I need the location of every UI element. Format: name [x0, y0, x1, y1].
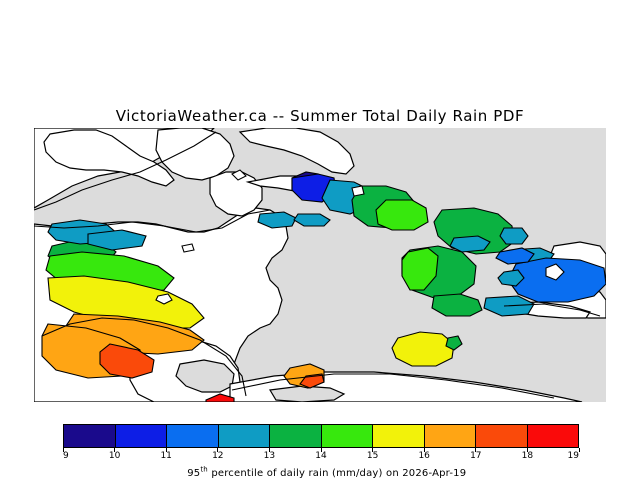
region-galiano-teal-edge [500, 228, 528, 244]
lake-small-c [182, 244, 194, 252]
region-san-juan-island [392, 332, 454, 366]
caption-value: 95 [187, 468, 200, 479]
map-svg [34, 128, 606, 402]
page-title: VictoriaWeather.ca -- Summer Total Daily… [0, 107, 640, 125]
colorbar-segment-17-18[interactable] [476, 425, 528, 447]
region-saltspring-southeast [376, 200, 428, 230]
colorbar-segment-9-10[interactable] [64, 425, 116, 447]
colorbar-segment-14-15[interactable] [322, 425, 374, 447]
caption-ordinal-suffix: th [200, 466, 208, 474]
colorbar-gradient [63, 424, 579, 448]
colorbar-caption: 95th percentile of daily rain (mm/day) o… [0, 457, 640, 490]
colorbar-segment-18-19[interactable] [528, 425, 579, 447]
colorbar-segment-15-16[interactable] [373, 425, 425, 447]
colorbar-segment-11-12[interactable] [167, 425, 219, 447]
weather-map-page: VictoriaWeather.ca -- Summer Total Daily… [0, 0, 640, 480]
lake-small-b [352, 186, 364, 196]
colorbar-segment-16-17[interactable] [425, 425, 477, 447]
colorbar-segment-12-13[interactable] [219, 425, 271, 447]
colorbar-segment-10-11[interactable] [116, 425, 168, 447]
caption-text: percentile of daily rain (mm/day) on 202… [208, 468, 466, 479]
colorbar[interactable]: 910111213141516171819 [63, 424, 579, 448]
region-channel-teal-b [450, 236, 490, 252]
map-canvas[interactable] [34, 128, 606, 402]
colorbar-segment-13-14[interactable] [270, 425, 322, 447]
